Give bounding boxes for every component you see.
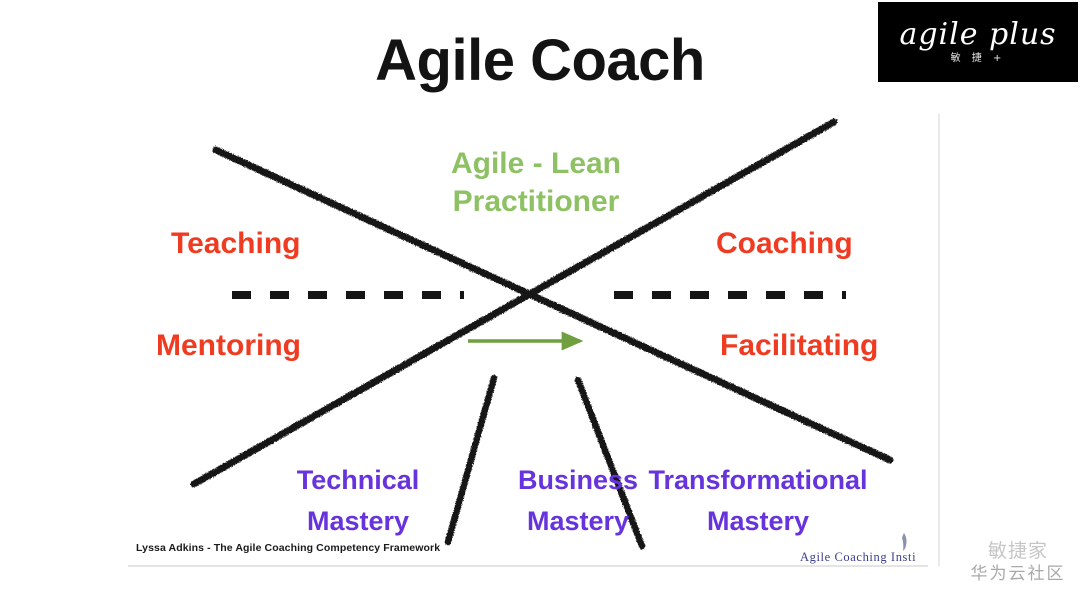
agile-coaching-institute-credit: Agile Coaching Insti [800,532,940,568]
quadrant-label-teaching: Teaching [171,228,300,260]
quadrant-label-coaching: Coaching [716,228,853,260]
aci-credit-text: Agile Coaching Insti [800,550,916,565]
mastery-label-transformational: TransformationalMastery [638,460,878,541]
quadrant-label-facilitating: Facilitating [720,330,878,362]
center-label-agile-lean-practitioner: Agile - LeanPractitioner [426,145,646,222]
watermark-line-1: 敏捷家 [962,540,1074,564]
watermark: 敏捷家 华为云社区 [962,540,1074,585]
attribution-text: Lyssa Adkins - The Agile Coaching Compet… [136,542,440,554]
page-title: Agile Coach [0,32,1080,90]
quadrant-label-mentoring: Mentoring [156,330,301,362]
slide-canvas: agile plus 敏 捷 + Agile Coach [0,0,1080,608]
watermark-line-2: 华为云社区 [962,564,1074,585]
mastery-label-technical: TechnicalMastery [268,460,448,541]
competency-framework-diagram: Agile - LeanPractitioner Teaching Coachi… [128,108,940,570]
